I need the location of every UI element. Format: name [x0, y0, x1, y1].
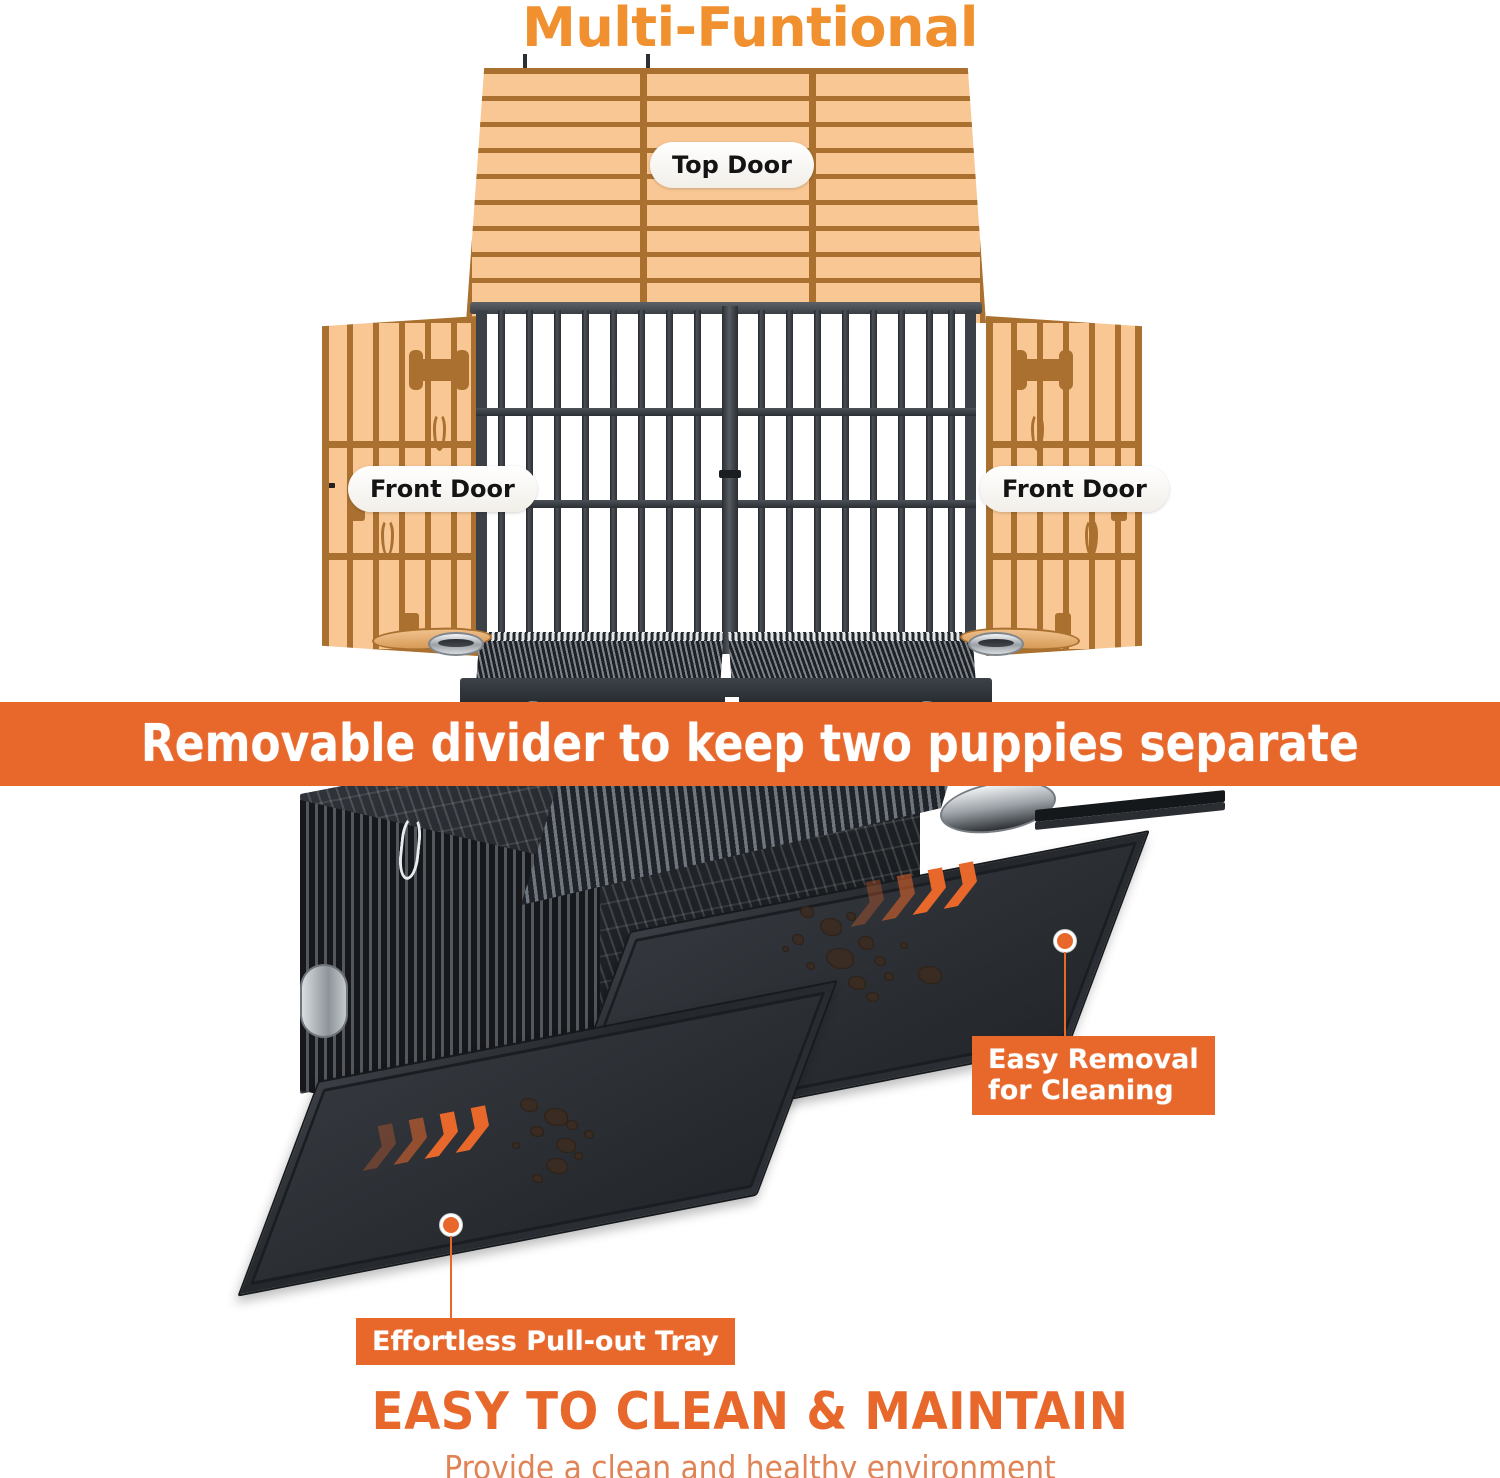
removable-divider[interactable]: [722, 306, 738, 654]
food-bowl-icon: [968, 632, 1024, 656]
food-bowl-icon: [300, 964, 348, 1038]
page-title: Multi-Funtional: [0, 0, 1500, 59]
bottom-photo-panel: Easy Removal for Cleaning Effortless Pul…: [0, 786, 1500, 1386]
top-illustration-panel: Top Door Front Door Front Door: [0, 58, 1500, 698]
callout-dot-icon: [440, 1214, 462, 1236]
food-bowl-icon: [428, 632, 484, 656]
footer-block: EASY TO CLEAN & MAINTAIN Provide a clean…: [0, 1382, 1500, 1478]
callout-dot-icon: [1054, 930, 1076, 952]
callout-leader-line: [450, 1236, 452, 1328]
top-door-panel[interactable]: [466, 68, 986, 323]
label-front-door-left: Front Door: [348, 466, 537, 512]
dog-crate-body: [476, 310, 976, 650]
crate-grid-floor: [472, 632, 980, 684]
label-front-door-right: Front Door: [980, 466, 1169, 512]
door-tab: [323, 483, 335, 488]
door-handle-left[interactable]: [413, 359, 465, 381]
divider-latch-icon[interactable]: [719, 470, 741, 478]
hook-icon: [381, 519, 394, 557]
door-handle-right[interactable]: [1017, 359, 1069, 381]
banner-text: Removable divider to keep two puppies se…: [141, 714, 1359, 774]
infographic-page: Multi-Funtional: [0, 0, 1500, 1478]
callout-pull-out-tray: Effortless Pull-out Tray: [356, 1318, 735, 1365]
callout-leader-line: [1064, 952, 1066, 1036]
hook-icon: [1085, 519, 1098, 557]
callout-easy-removal: Easy Removal for Cleaning: [972, 1036, 1215, 1115]
top-door-pin-left: [523, 54, 527, 70]
top-door-assembly: [466, 68, 986, 323]
feature-banner: Removable divider to keep two puppies se…: [0, 702, 1500, 786]
top-door-pin-right: [646, 54, 650, 70]
footer-title: EASY TO CLEAN & MAINTAIN: [0, 1382, 1500, 1442]
label-top-door: Top Door: [650, 142, 814, 188]
footer-subtitle: Provide a clean and healthy environment: [0, 1448, 1500, 1478]
